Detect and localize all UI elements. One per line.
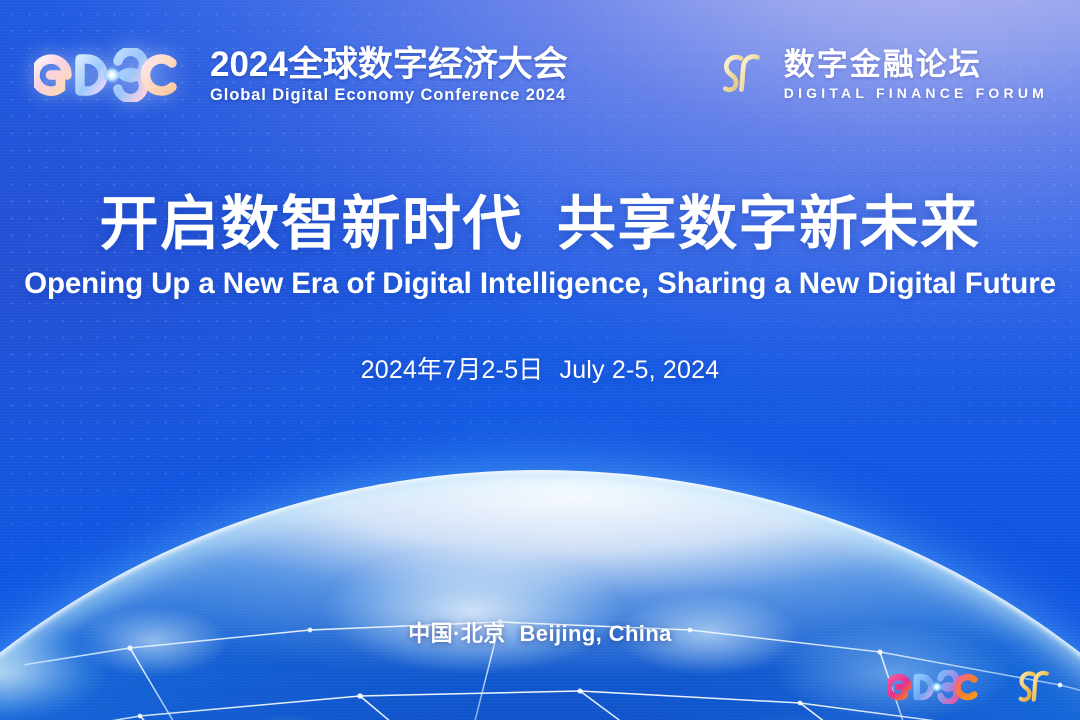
event-location-cn: 中国·北京 xyxy=(408,621,505,646)
conference-backdrop: 2024全球数字经济大会 Global Digital Economy Conf… xyxy=(0,0,1080,720)
event-date-en: July 2-5, 2024 xyxy=(560,356,720,384)
event-location-en: Beijing, China xyxy=(520,621,672,646)
forum-title-cn: 数字金融论坛 xyxy=(784,49,1048,80)
main-slogan-cn-first: 开启数智新时代 xyxy=(99,191,523,257)
gdec-title-block: 2024全球数字经济大会 Global Digital Economy Conf… xyxy=(210,47,568,104)
event-date: 2024年7月2-5日July 2-5, 2024 xyxy=(0,350,1080,386)
conference-title-en: Global Digital Economy Conference 2024 xyxy=(210,87,568,104)
gdec-monogram-icon xyxy=(34,48,194,102)
ff-monogram-icon xyxy=(1014,666,1056,708)
gdec-monogram-icon xyxy=(888,670,988,704)
conference-title-cn: 2024全球数字经济大会 xyxy=(210,47,568,82)
footer-logo-group xyxy=(888,666,1056,708)
ff-monogram-icon xyxy=(717,48,769,100)
gdec-logo-lockup: 2024全球数字经济大会 Global Digital Economy Conf… xyxy=(34,47,568,104)
main-slogan-cn: 开启数智新时代共享数字新未来 xyxy=(0,193,1080,257)
digital-finance-forum-logo-lockup: 数字金融论坛 DIGITAL FINANCE FORUM xyxy=(717,48,1048,100)
event-location: 中国·北京Beijing, China xyxy=(0,616,1080,648)
main-slogan-en: Opening Up a New Era of Digital Intellig… xyxy=(0,268,1080,300)
dff-title-block: 数字金融论坛 DIGITAL FINANCE FORUM xyxy=(784,49,1048,100)
event-date-cn: 2024年7月2-5日 xyxy=(361,356,544,384)
forum-title-en: DIGITAL FINANCE FORUM xyxy=(784,86,1048,100)
main-slogan-cn-second: 共享数字新未来 xyxy=(557,191,981,257)
